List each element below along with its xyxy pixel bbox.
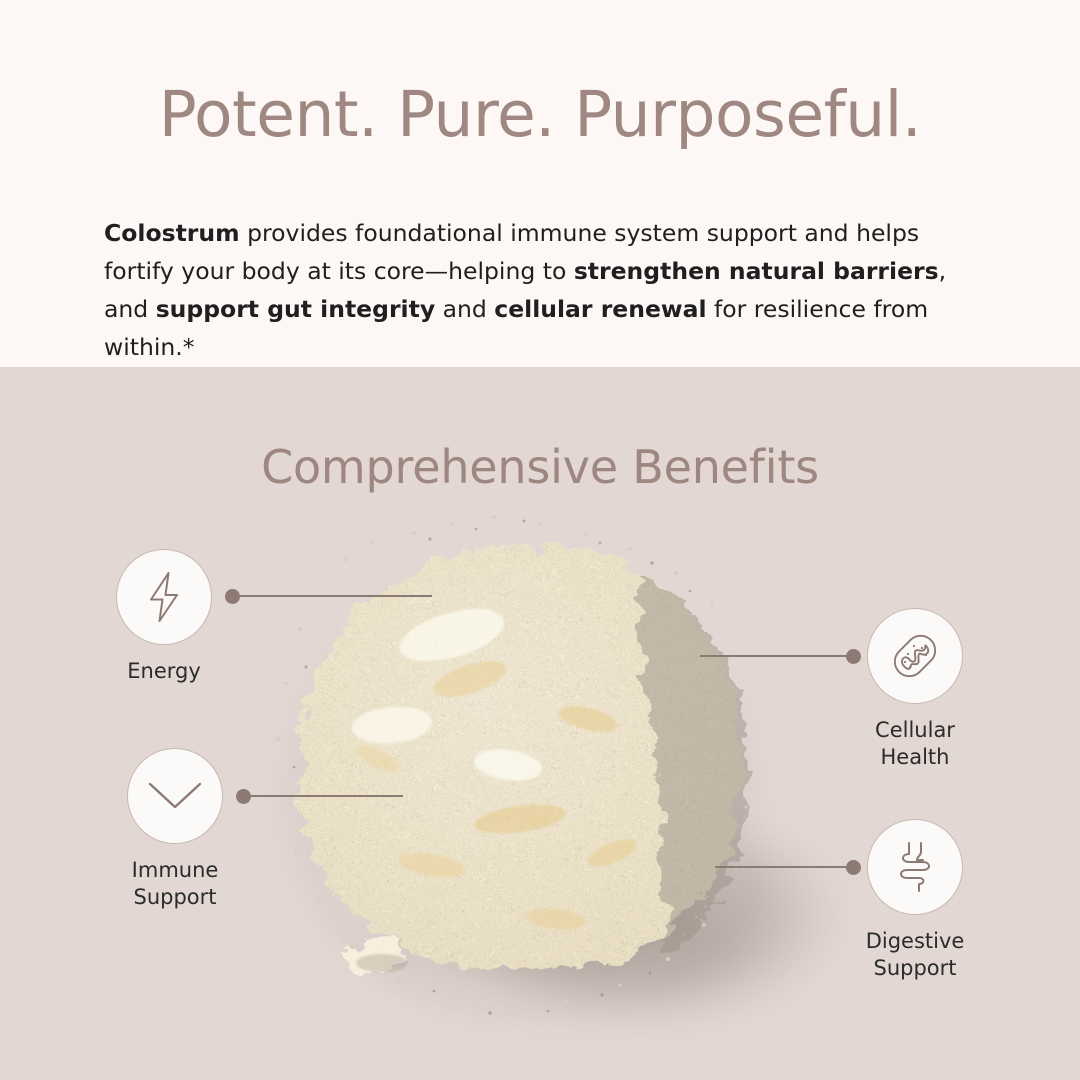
- benefit-item-digestive-support[interactable]: Digestive Support: [820, 819, 1010, 982]
- benefit-label-immune-support: Immune Support: [80, 857, 270, 911]
- benefit-icon-circle-digestive-support: [867, 819, 963, 915]
- hero-description: Colostrum provides foundational immune s…: [104, 214, 980, 366]
- checkmark-icon: [147, 781, 203, 811]
- benefit-label-energy: Energy: [69, 658, 259, 685]
- hero-description-emphasis: support gut integrity: [156, 295, 435, 323]
- hero-band: Potent. Pure. Purposeful. Colostrum prov…: [0, 0, 1080, 367]
- benefits-band: Comprehensive Benefits: [0, 367, 1080, 1080]
- product-benefits-page: Potent. Pure. Purposeful. Colostrum prov…: [0, 0, 1080, 1080]
- hero-description-emphasis: cellular renewal: [494, 295, 706, 323]
- hero-description-emphasis: strengthen natural barriers: [574, 257, 939, 285]
- benefit-label-cellular-health: Cellular Health: [820, 717, 1010, 771]
- benefit-icon-circle-cellular-health: [867, 608, 963, 704]
- benefit-item-energy[interactable]: Energy: [69, 549, 259, 685]
- benefit-label-digestive-support: Digestive Support: [820, 928, 1010, 982]
- mitochondria-icon: [888, 629, 942, 683]
- connector-energy: [232, 595, 432, 597]
- page-title: Potent. Pure. Purposeful.: [0, 78, 1080, 151]
- intestines-icon: [890, 840, 940, 894]
- hero-description-text: and: [435, 295, 494, 323]
- benefit-icon-circle-energy: [116, 549, 212, 645]
- benefit-item-cellular-health[interactable]: Cellular Health: [820, 608, 1010, 771]
- benefit-item-immune-support[interactable]: Immune Support: [80, 748, 270, 911]
- lightning-bolt-icon: [142, 571, 186, 623]
- hero-description-emphasis: Colostrum: [104, 219, 240, 247]
- benefit-icon-circle-immune-support: [127, 748, 223, 844]
